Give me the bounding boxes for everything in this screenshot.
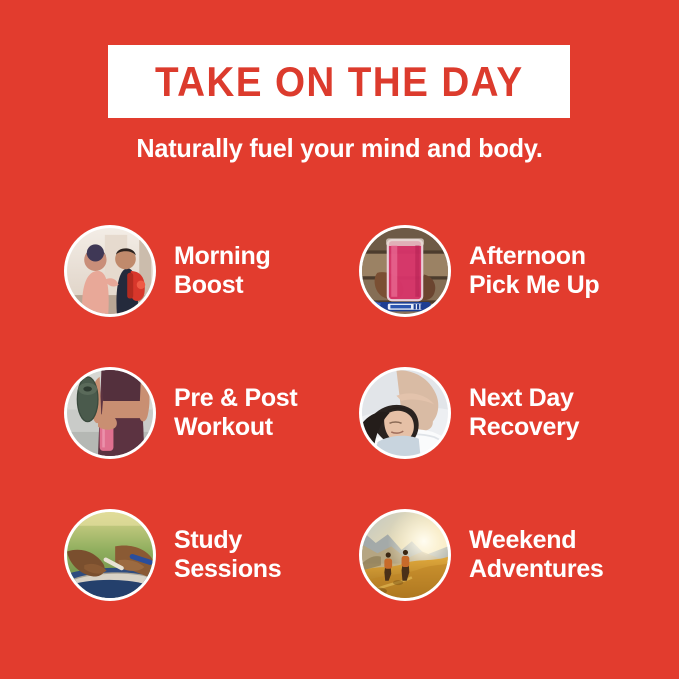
benefit-label-line2: Pick Me Up [469,271,599,300]
benefit-item-pre-post-workout: Pre & Post Workout [64,342,359,484]
benefit-label: Morning Boost [174,242,270,300]
benefit-label: Afternoon Pick Me Up [469,242,599,300]
benefit-item-weekend-adventures: Weekend Adventures [359,484,654,626]
thumbnail-frame [64,509,156,601]
promo-poster: TAKE ON THE DAY Naturally fuel your mind… [0,0,679,679]
benefit-item-morning-boost: Morning Boost [64,200,359,342]
thumbnail-frame [64,367,156,459]
benefit-label-line2: Sessions [174,555,281,584]
benefit-label: Next Day Recovery [469,384,579,442]
benefit-item-next-day-recovery: Next Day Recovery [359,342,654,484]
benefit-label-line1: Study [174,526,242,554]
benefit-label: Weekend Adventures [469,526,604,584]
benefit-item-study-sessions: Study Sessions [64,484,359,626]
thumbnail-frame [64,225,156,317]
benefit-label-line1: Weekend [469,526,576,554]
weekend-adventures-photo [362,512,448,598]
benefit-label-line2: Adventures [469,555,604,584]
benefit-label: Study Sessions [174,526,281,584]
benefit-label: Pre & Post Workout [174,384,297,442]
thumbnail-frame [359,509,451,601]
page-title: TAKE ON THE DAY [155,61,524,103]
morning-boost-photo [67,228,153,314]
benefits-grid: Morning Boost [0,200,679,626]
study-sessions-photo [67,512,153,598]
benefit-label-line1: Morning [174,242,270,270]
page-subtitle: Naturally fuel your mind and body. [10,133,669,164]
thumbnail-frame [359,367,451,459]
benefit-item-afternoon-pick-me-up: Afternoon Pick Me Up [359,200,654,342]
next-day-recovery-photo [362,370,448,456]
benefit-label-line1: Next Day [469,384,574,412]
afternoon-pick-me-up-photo [362,228,448,314]
benefit-label-line2: Boost [174,271,270,300]
benefit-label-line1: Afternoon [469,242,586,270]
benefit-label-line2: Recovery [469,413,579,442]
benefit-label-line1: Pre & Post [174,384,297,412]
benefit-label-line2: Workout [174,413,297,442]
title-banner: TAKE ON THE DAY [108,45,570,118]
pre-post-workout-photo [67,370,153,456]
thumbnail-frame [359,225,451,317]
